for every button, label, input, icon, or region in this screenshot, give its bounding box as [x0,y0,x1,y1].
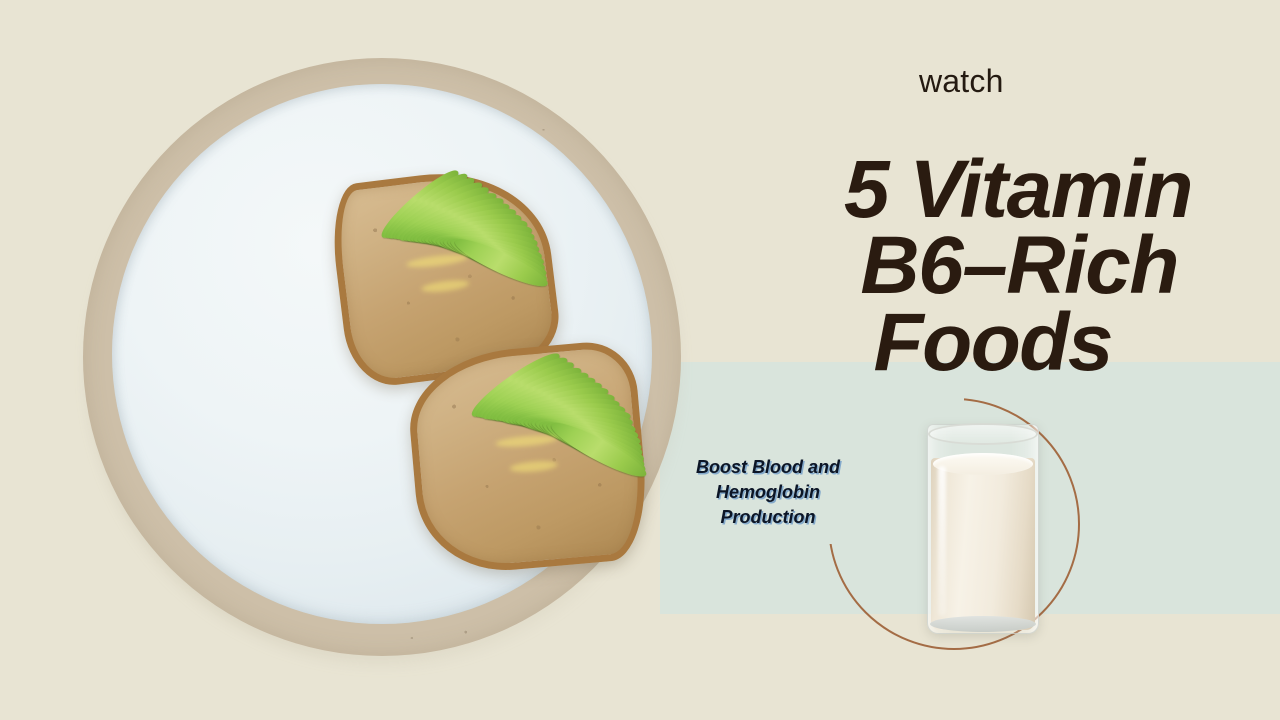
subtitle: Boost Blood and Hemoglobin Production [658,455,878,529]
glass-base [930,616,1036,632]
glass-of-milk [927,424,1039,634]
glass-rim [928,423,1038,445]
milk-fill [931,458,1035,630]
watch-label: watch [919,65,1004,97]
title-line-3: Foods [600,305,1200,381]
title-line-2: B6–Rich [600,228,1200,304]
milk-surface [933,453,1033,475]
subtitle-line-2: Hemoglobin [658,480,878,505]
page-title: 5 Vitamin B6–Rich Foods [600,152,1200,381]
title-line-1: 5 Vitamin [600,152,1200,228]
glass-highlight [938,466,946,616]
avocado-toast-photo [83,58,683,658]
subtitle-line-1: Boost Blood and [658,455,878,480]
video-thumbnail-slide: watch 5 Vitamin B6–Rich Foods Boost Bloo… [0,0,1280,720]
subtitle-line-3: Production [658,505,878,530]
